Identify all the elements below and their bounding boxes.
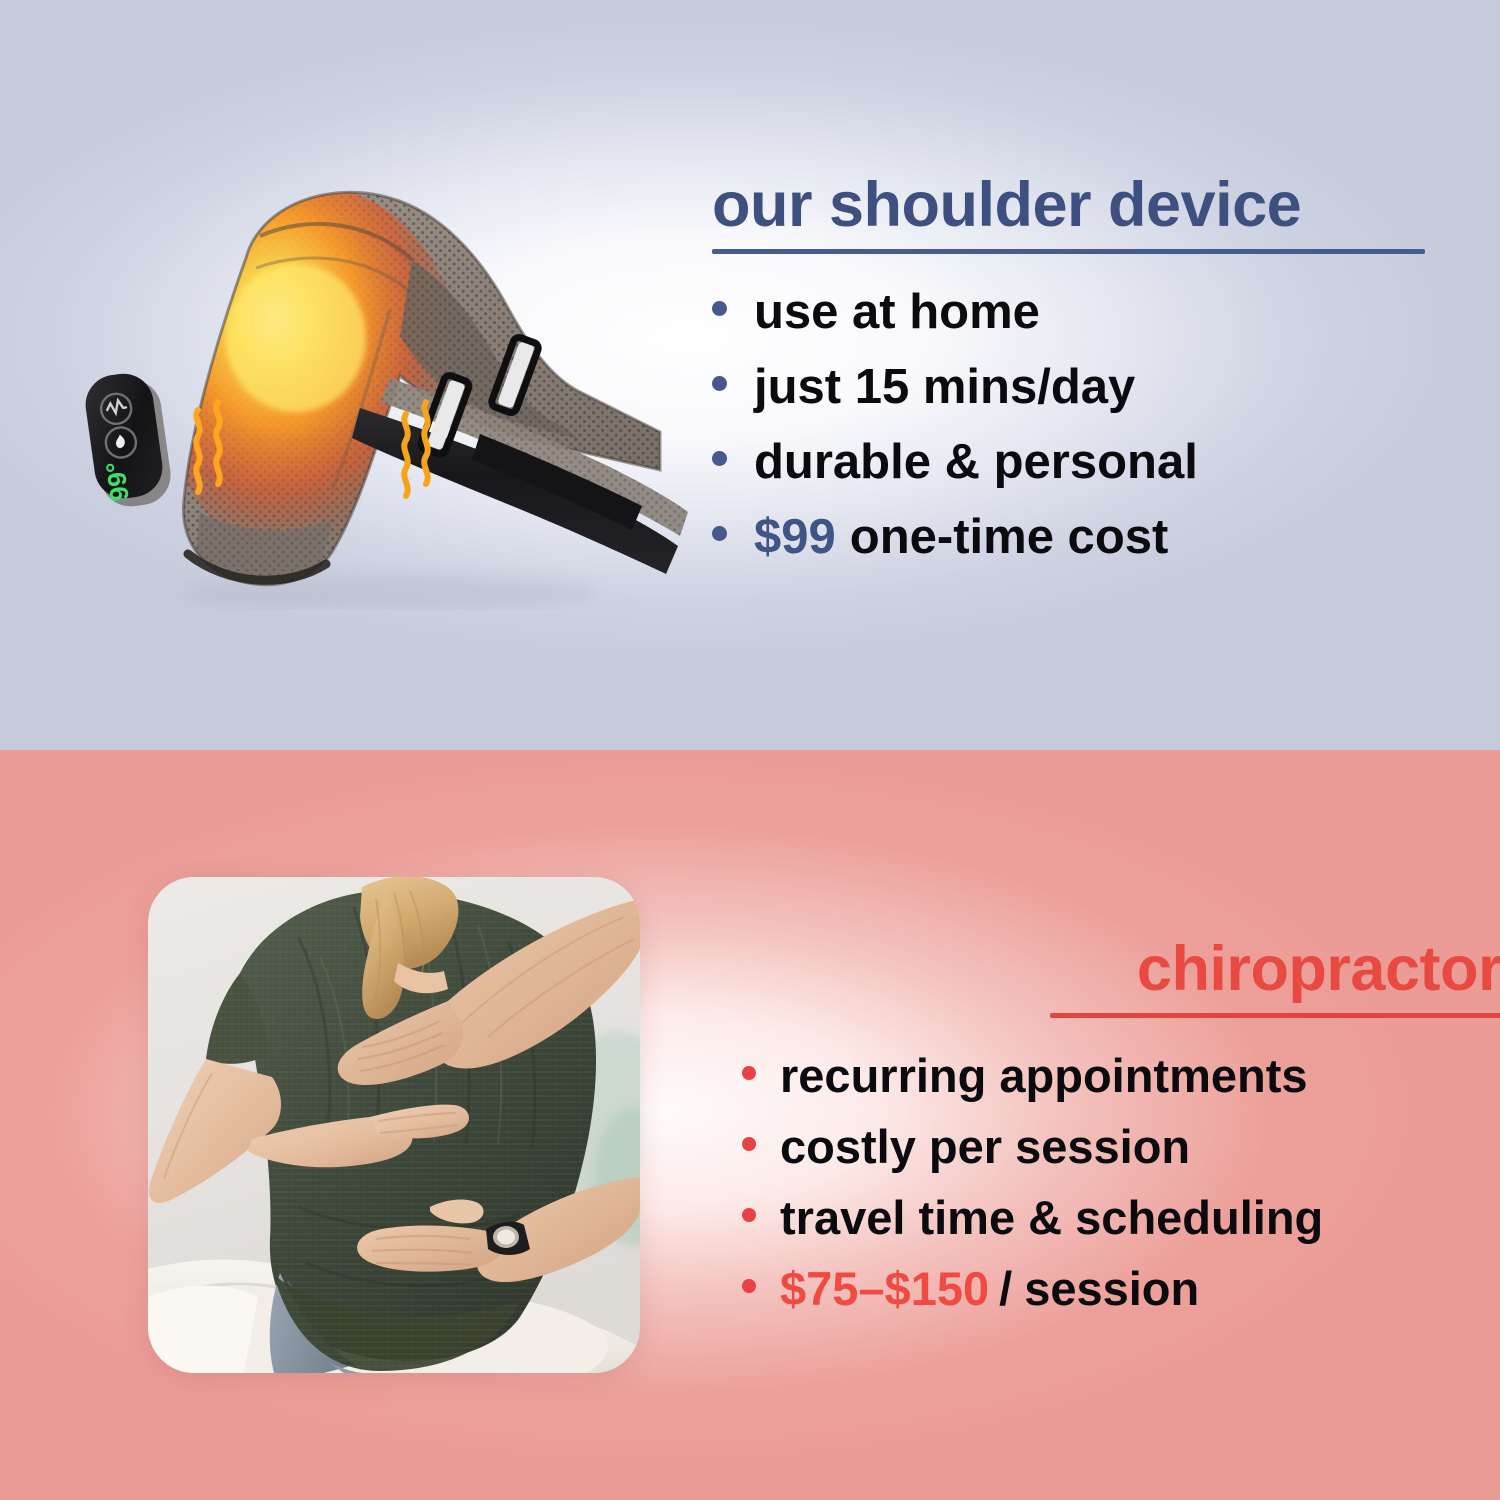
bullet-dot-icon [742, 1208, 756, 1222]
bullet-text: durable & personal [754, 438, 1198, 487]
bullet-text: one-time cost [850, 513, 1169, 562]
list-item-price: $75–$150 / session [742, 1265, 1500, 1312]
bullet-text: session [1024, 1265, 1199, 1312]
bullet-text: costly per session [780, 1123, 1190, 1170]
bullet-dot-icon [742, 1279, 756, 1293]
bullet-dot-icon [742, 1137, 756, 1151]
list-item: use at home [712, 288, 1472, 337]
shoulder-device-bullet-list: use at home just 15 mins/day durable & p… [712, 288, 1472, 562]
list-item: costly per session [742, 1123, 1500, 1170]
comparison-infographic: 99° our shoulder device use at home just… [0, 0, 1500, 1500]
bullet-dot-icon [742, 1066, 756, 1080]
chiropractor-text-block: chiropractor recurring appointments cost… [742, 938, 1500, 1336]
shoulder-device-heading: our shoulder device [712, 174, 1472, 237]
control-pod: 99° [82, 370, 175, 510]
bullet-dot-icon [712, 451, 727, 466]
bullet-text: use at home [754, 288, 1040, 337]
price-separator: / [999, 1265, 1012, 1312]
bullet-dot-icon [712, 526, 727, 541]
bullet-text: recurring appointments [780, 1052, 1308, 1099]
list-item: just 15 mins/day [712, 363, 1472, 412]
price-value: $75–$150 [780, 1265, 989, 1312]
svg-text:99°: 99° [100, 460, 135, 503]
shoulder-device-heading-underline [712, 249, 1425, 254]
list-item: durable & personal [712, 438, 1472, 487]
price-value: $99 [754, 513, 836, 562]
list-item: recurring appointments [742, 1052, 1500, 1099]
bullet-dot-icon [712, 301, 727, 316]
chiropractor-bullet-list: recurring appointments costly per sessio… [742, 1052, 1500, 1312]
list-item: travel time & scheduling [742, 1194, 1500, 1241]
shoulder-device-image: 99° [60, 140, 700, 610]
list-item-price: $99 one-time cost [712, 513, 1472, 562]
chiropractor-photo [148, 877, 640, 1373]
chiropractor-heading: chiropractor [742, 938, 1500, 1001]
shoulder-device-text-block: our shoulder device use at home just 15 … [712, 174, 1472, 588]
bullet-dot-icon [712, 376, 727, 391]
bullet-text: travel time & scheduling [780, 1194, 1323, 1241]
chiropractor-heading-underline [1050, 1013, 1500, 1018]
shoulder-device-section: 99° our shoulder device use at home just… [0, 0, 1500, 750]
bullet-text: just 15 mins/day [754, 363, 1135, 412]
